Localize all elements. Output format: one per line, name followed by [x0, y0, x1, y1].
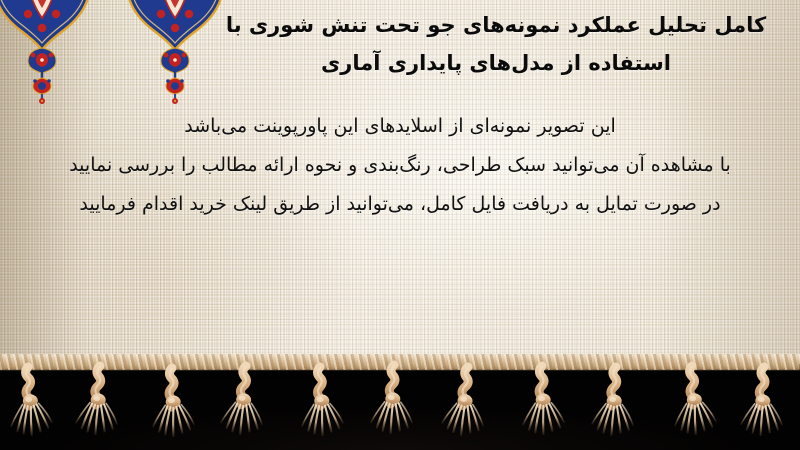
carpet-fringe-zone [0, 335, 800, 450]
slide-title: کامل تحلیل عملکرد نمونه‌های جو تحت تنش ش… [216, 6, 776, 82]
body-line-2: با مشاهده آن می‌توانید سبک طراحی، رنگ‌بن… [20, 146, 780, 185]
body-line-3: در صورت تمایل به دریافت فایل کامل، می‌تو… [20, 185, 780, 224]
slide-body: این تصویر نمونه‌ای از اسلایدهای این پاور… [20, 107, 780, 224]
body-line-1: این تصویر نمونه‌ای از اسلایدهای این پاور… [20, 107, 780, 146]
tassel-row [7, 364, 784, 436]
title-line-2: استفاده از مدل‌های پایداری آماری [216, 44, 776, 82]
title-line-1: کامل تحلیل عملکرد نمونه‌های جو تحت تنش ش… [216, 6, 776, 44]
fringe-tassels-icon [0, 335, 800, 450]
slide-canvas: کامل تحلیل عملکرد نمونه‌های جو تحت تنش ش… [0, 0, 800, 450]
